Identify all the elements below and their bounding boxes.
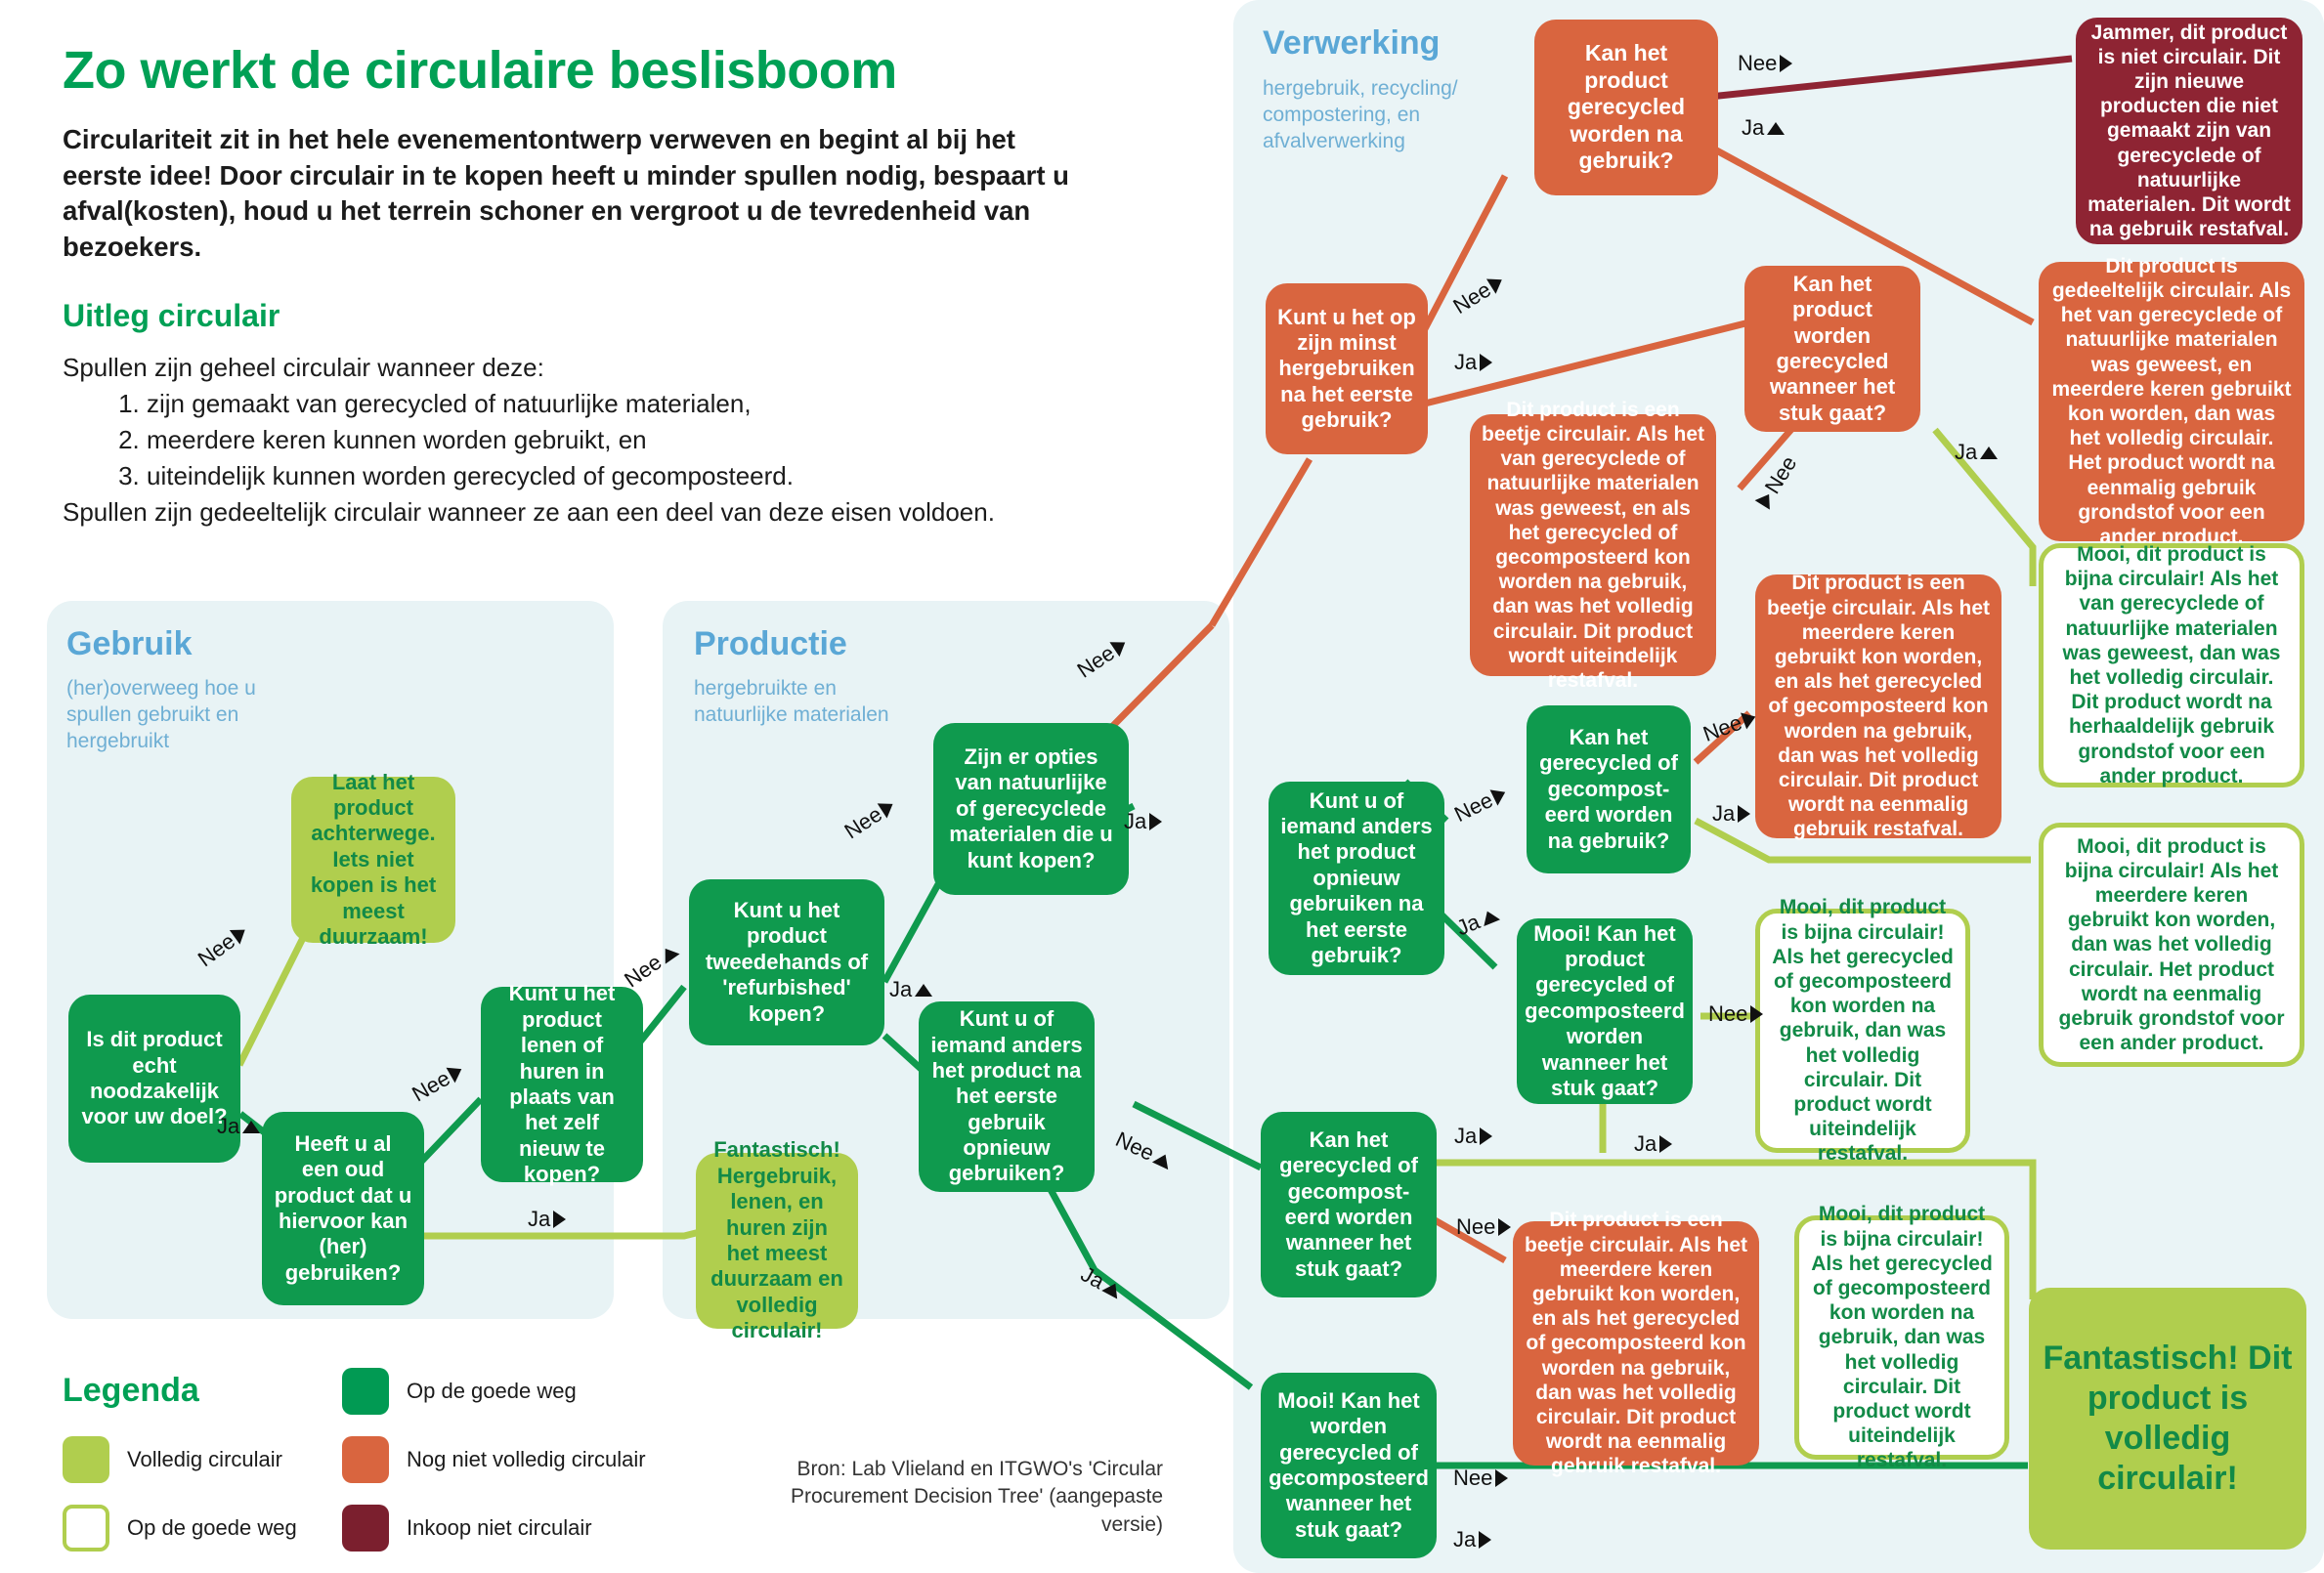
arrow-right-icon xyxy=(1750,1005,1763,1023)
uitleg-heading: Uitleg circulair xyxy=(63,298,280,334)
panel-subtitle-productie: hergebruikte en natuurlijke materialen xyxy=(694,676,899,729)
legend-label: Op de goede weg xyxy=(407,1379,577,1404)
panel-title-gebruik: Gebruik xyxy=(66,625,192,663)
panel-subtitle-gebruik: (her)overweeg hoe u spullen gebruikt en … xyxy=(66,676,291,755)
legend-label: Nog niet volledig circulair xyxy=(407,1447,646,1472)
node-fantastisch-volledig-circulair[interactable]: Fantastisch! Dit product is volledig cir… xyxy=(2029,1288,2306,1550)
node-mooi-bijna-circulair-4[interactable]: Mooi, dit product is bijna circulair! Al… xyxy=(1794,1215,2009,1460)
legend-item-inkoop-niet-circulair: Inkoop niet circulair xyxy=(342,1505,592,1552)
node-op-zijn-minst-hergebruiken[interactable]: Kunt u het op zijn minst hergebruiken na… xyxy=(1266,283,1428,454)
uitleg-lead: Spullen zijn geheel circulair wanneer de… xyxy=(63,350,1108,386)
arrow-up-icon xyxy=(242,1121,260,1133)
edge-label-ja: Ja xyxy=(1712,801,1750,827)
arrow-right-icon xyxy=(1480,354,1492,371)
arrow-right-icon xyxy=(1498,1218,1511,1236)
intro-paragraph: Circulariteit zit in het hele evenemento… xyxy=(63,122,1079,265)
edge-label-ja: Ja xyxy=(889,977,932,1002)
source-credit: Bron: Lab Vlieland en ITGWO's 'Circular … xyxy=(753,1456,1163,1539)
arrow-right-icon xyxy=(1479,1531,1491,1549)
node-kunt-u-of-iemand-anders-opnieuw[interactable]: Kunt u of iemand anders het product opni… xyxy=(1269,782,1444,975)
edge-label-ja: Ja xyxy=(528,1207,566,1232)
node-beetje-circulair-2[interactable]: Dit product is een beetje circulair. Als… xyxy=(1755,574,2001,838)
infographic-root: Zo werkt de circulaire beslisboom Circul… xyxy=(0,0,2324,1573)
node-is-product-noodzakelijk[interactable]: Is dit product echt noodzakelijk voor uw… xyxy=(68,995,240,1163)
uitleg-list-item: uiteindelijk kunnen worden gerecycled of… xyxy=(147,458,1108,494)
legend-item-volledig-circulair: Volledig circulair xyxy=(63,1436,282,1483)
node-mooi-bijna-circulair-2[interactable]: Mooi, dit product is bijna circulair! Al… xyxy=(2039,823,2304,1067)
uitleg-list-item: meerdere keren kunnen worden gebruikt, e… xyxy=(147,422,1108,458)
node-gedeeltelijk-circulair[interactable]: Dit product is gedeeltelijk circulair. A… xyxy=(2039,262,2304,541)
arrow-right-icon xyxy=(553,1211,566,1228)
node-mooi-kan-worden-gerecycled-stuk[interactable]: Mooi! Kan het worden gerecycled of gecom… xyxy=(1261,1373,1437,1558)
node-beetje-circulair-1[interactable]: Dit product is een beetje circulair. Als… xyxy=(1470,414,1716,676)
arrow-right-icon xyxy=(1495,1469,1508,1487)
page-title: Zo werkt de circulaire beslisboom xyxy=(63,43,1098,99)
arrow-up-icon xyxy=(1980,446,1998,459)
arrow-right-icon xyxy=(1780,55,1792,72)
edge-label-ja: Ja xyxy=(217,1114,260,1139)
legend-label: Volledig circulair xyxy=(127,1447,282,1472)
node-opties-natuurlijke-materialen[interactable]: Zijn er opties van natuurlijke of gerecy… xyxy=(933,723,1129,895)
legend-item-nog-niet-volledig-circulair: Nog niet volledig circulair xyxy=(342,1436,646,1483)
arrow-up-icon xyxy=(915,984,932,997)
node-beetje-circulair-3[interactable]: Dit product is een beetje circulair. Als… xyxy=(1513,1221,1759,1466)
legend-swatch-green xyxy=(342,1368,389,1415)
panel-subtitle-verwerking: hergebruik, recycling/ compostering, en … xyxy=(1263,76,1497,155)
arrow-up-icon xyxy=(1767,122,1785,135)
node-lenen-of-huren[interactable]: Kunt u het product lenen of huren in pla… xyxy=(481,987,643,1182)
uitleg-body: Spullen zijn geheel circulair wanneer de… xyxy=(63,350,1108,531)
edge-label-nee: Nee xyxy=(1456,1214,1511,1240)
legend-label: Op de goede weg xyxy=(127,1515,297,1541)
node-laat-product-achterwege[interactable]: Laat het product achterwege. Iets niet k… xyxy=(291,777,455,943)
uitleg-tail: Spullen zijn gedeeltelijk circulair wann… xyxy=(63,494,1108,531)
edge-label-ja: Ja xyxy=(1454,1124,1492,1149)
arrow-right-icon xyxy=(1738,805,1750,823)
legend-swatch-orange xyxy=(342,1436,389,1483)
legend-swatch-lime xyxy=(63,1436,109,1483)
node-jammer-niet-circulair[interactable]: Jammer, dit product is niet circulair. D… xyxy=(2076,18,2302,244)
uitleg-list-item: zijn gemaakt van gerecycled of natuurlij… xyxy=(147,386,1108,422)
legend-item-op-de-goede-weg-outline: Op de goede weg xyxy=(63,1505,297,1552)
legend-title: Legenda xyxy=(63,1372,199,1410)
node-gerecycled-wanneer-stuk[interactable]: Kan het product worden gerecycled wannee… xyxy=(1744,266,1920,432)
edge-label-ja: Ja xyxy=(1124,809,1162,834)
edge-label-nee: Nee xyxy=(1453,1466,1508,1491)
node-gerecycled-gecomposteerd-wanneer-stuk[interactable]: Kan het gerecycled of gecompost-eerd wor… xyxy=(1261,1112,1437,1297)
node-product-opnieuw-gebruiken[interactable]: Kunt u of iemand anders het product na h… xyxy=(919,1001,1095,1192)
node-mooi-bijna-circulair-3[interactable]: Mooi, dit product is bijna circulair! Al… xyxy=(1755,909,1970,1153)
node-tweedehands-refurbished[interactable]: Kunt u het product tweedehands of 'refur… xyxy=(689,879,884,1045)
node-kan-product-gerecycled-na-gebruik[interactable]: Kan het product gerecycled worden na geb… xyxy=(1534,20,1718,195)
node-gerecycled-gecomposteerd-na-gebruik[interactable]: Kan het gerecycled of gecompost-eerd wor… xyxy=(1527,705,1691,873)
edge-label-nee: Nee xyxy=(1738,51,1792,76)
uitleg-list: zijn gemaakt van gerecycled of natuurlij… xyxy=(63,386,1108,494)
legend-label: Inkoop niet circulair xyxy=(407,1515,592,1541)
edge-label-ja: Ja xyxy=(1742,115,1785,141)
panel-title-productie: Productie xyxy=(694,625,847,663)
edge-label-nee: Nee xyxy=(1708,1001,1763,1027)
arrow-right-icon xyxy=(1659,1135,1672,1153)
edge-label-ja: Ja xyxy=(1454,350,1492,375)
node-fantastisch-hergebruik[interactable]: Fantastisch! Hergebruik, lenen, en huren… xyxy=(696,1153,858,1329)
legend-item-op-de-goede-weg-green: Op de goede weg xyxy=(342,1368,577,1415)
edge-label-ja: Ja xyxy=(1453,1527,1491,1552)
legend-swatch-white xyxy=(63,1505,109,1552)
arrow-right-icon xyxy=(1480,1127,1492,1145)
node-oud-product-hergebruiken[interactable]: Heeft u al een oud product dat u hiervoo… xyxy=(262,1112,424,1305)
node-mooi-bijna-circulair-1[interactable]: Mooi, dit product is bijna circulair! Al… xyxy=(2039,543,2304,787)
legend-swatch-dark xyxy=(342,1505,389,1552)
edge-label-ja: Ja xyxy=(1634,1131,1672,1157)
panel-title-verwerking: Verwerking xyxy=(1263,24,1440,63)
node-mooi-kan-gerecycled-wanneer-stuk[interactable]: Mooi! Kan het product gerecycled of geco… xyxy=(1517,918,1693,1104)
edge-label-ja: Ja xyxy=(1955,440,1998,465)
arrow-right-icon xyxy=(1149,813,1162,830)
